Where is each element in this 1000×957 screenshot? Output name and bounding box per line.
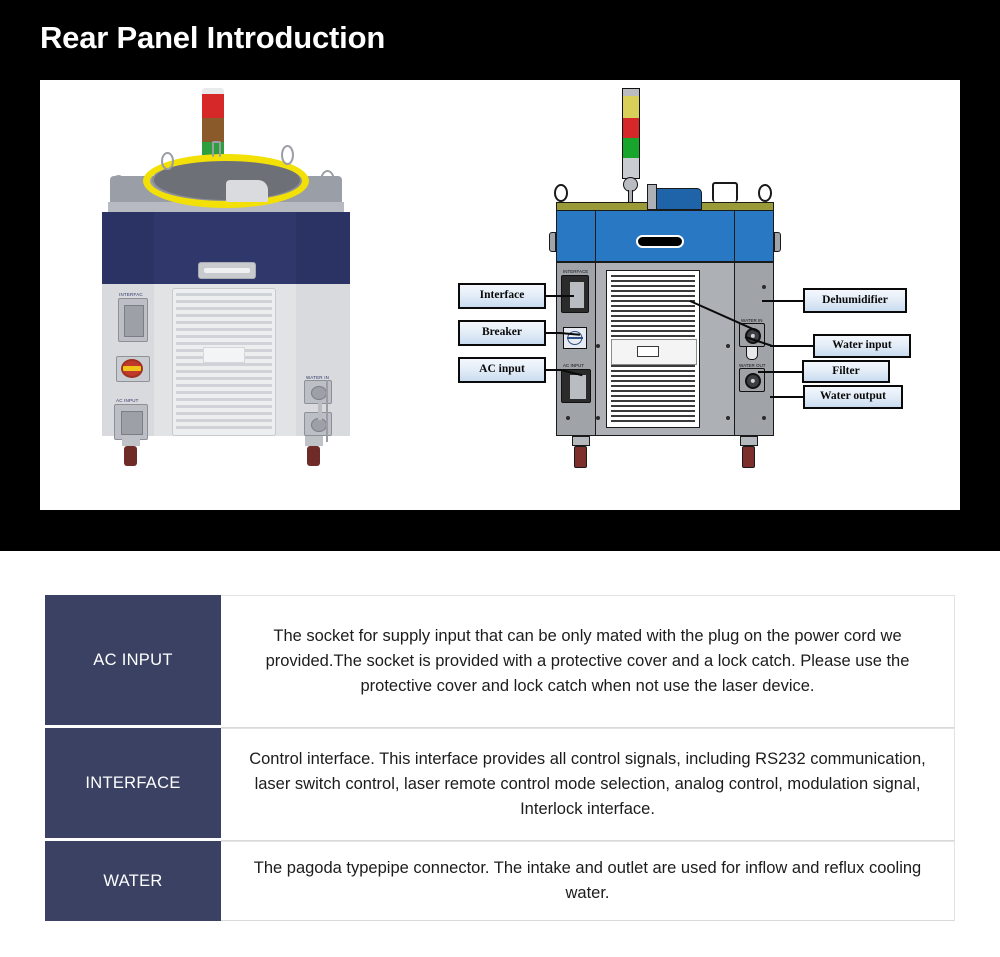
- table-row-key: INTERFACE: [45, 728, 221, 841]
- table-row-value: The socket for supply input that can be …: [221, 595, 955, 728]
- emergency-stop-indicator: [123, 366, 141, 371]
- callout-label: Water input: [832, 340, 892, 352]
- lift-hook-icon: [212, 141, 221, 157]
- door-handle: [636, 235, 684, 248]
- hero-banner: Rear Panel Introduction: [0, 0, 1000, 551]
- top-cover-box: [652, 188, 702, 210]
- upper-housing-right-panel: [734, 210, 774, 262]
- lift-hook-icon: [554, 184, 568, 202]
- upper-housing-left-panel: [556, 210, 596, 262]
- callout-leader-line: [770, 396, 804, 398]
- interface-port-label: INTERFACE: [563, 269, 588, 274]
- table-row: INTERFACE Control interface. This interf…: [45, 728, 955, 841]
- figure-panel: INTERFAC AC INPUT WATER IN: [40, 80, 960, 510]
- callout-label: Filter: [832, 366, 859, 378]
- ac-input-port-label: AC INPUT: [116, 398, 139, 403]
- table-row: WATER The pagoda typepipe connector. The…: [45, 841, 955, 921]
- table-row-key: WATER: [45, 841, 221, 921]
- table-row: AC INPUT The socket for supply input tha…: [45, 595, 955, 728]
- callout-leader-line: [546, 332, 560, 334]
- lift-hook-icon: [712, 182, 738, 202]
- lift-hook-icon: [161, 152, 174, 170]
- interface-port: [118, 298, 148, 342]
- dehumidifier-tag: [637, 346, 659, 357]
- callout-leader-line: [770, 345, 814, 347]
- callout-water-output: Water output: [803, 385, 903, 409]
- side-grip-right: [774, 232, 781, 252]
- ac-input-port: [114, 404, 148, 440]
- interface-port-label: INTERFAC: [119, 292, 143, 297]
- door-handle-slot: [204, 268, 250, 273]
- upper-housing-left-panel: [102, 212, 154, 284]
- ventilation-grille: [606, 270, 700, 428]
- callout-label: Water output: [820, 391, 886, 403]
- callout-label: Breaker: [482, 327, 522, 339]
- breaker-switch[interactable]: [563, 327, 587, 349]
- lift-hook-icon: [111, 175, 126, 195]
- lift-hook-icon: [320, 170, 335, 192]
- callout-label: Dehumidifier: [822, 295, 888, 307]
- callout-label: AC input: [479, 364, 525, 376]
- callout-leader-line: [762, 300, 804, 302]
- page-title: Rear Panel Introduction: [40, 20, 385, 56]
- ventilation-grille: [172, 288, 276, 436]
- callout-label: Interface: [480, 290, 525, 302]
- top-bracket: [647, 184, 657, 210]
- callout-filter: Filter: [802, 360, 890, 383]
- callout-leader-line: [758, 371, 804, 373]
- callout-ac-input: AC input: [458, 357, 546, 383]
- interface-port: [561, 275, 589, 313]
- lift-hook-icon: [758, 184, 772, 202]
- ac-input-port-label: AC INPUT: [563, 363, 584, 368]
- table-row-value: Control interface. This interface provid…: [221, 728, 955, 841]
- callout-dehumidifier: Dehumidifier: [803, 288, 907, 313]
- spec-table: AC INPUT The socket for supply input tha…: [45, 595, 955, 921]
- callout-breaker: Breaker: [458, 320, 546, 346]
- laser-device-photo: INTERFAC AC INPUT WATER IN: [80, 80, 380, 510]
- page-root: Rear Panel Introduction: [0, 0, 1000, 957]
- upper-housing-right-panel: [296, 212, 350, 284]
- callout-interface: Interface: [458, 283, 546, 309]
- callout-water-input: Water input: [813, 334, 911, 358]
- table-row-value: The pagoda typepipe connector. The intak…: [221, 841, 955, 921]
- table-row-key: AC INPUT: [45, 595, 221, 728]
- water-filter: [746, 346, 758, 360]
- side-grip-left: [549, 232, 556, 252]
- laser-device-line-drawing: INTERFACE AC INPUT WATER IN: [530, 80, 830, 510]
- lift-hook-icon: [281, 145, 294, 165]
- cable-cover: [226, 180, 268, 202]
- signal-tower-icon: [622, 88, 640, 179]
- callout-leader-line: [546, 295, 574, 297]
